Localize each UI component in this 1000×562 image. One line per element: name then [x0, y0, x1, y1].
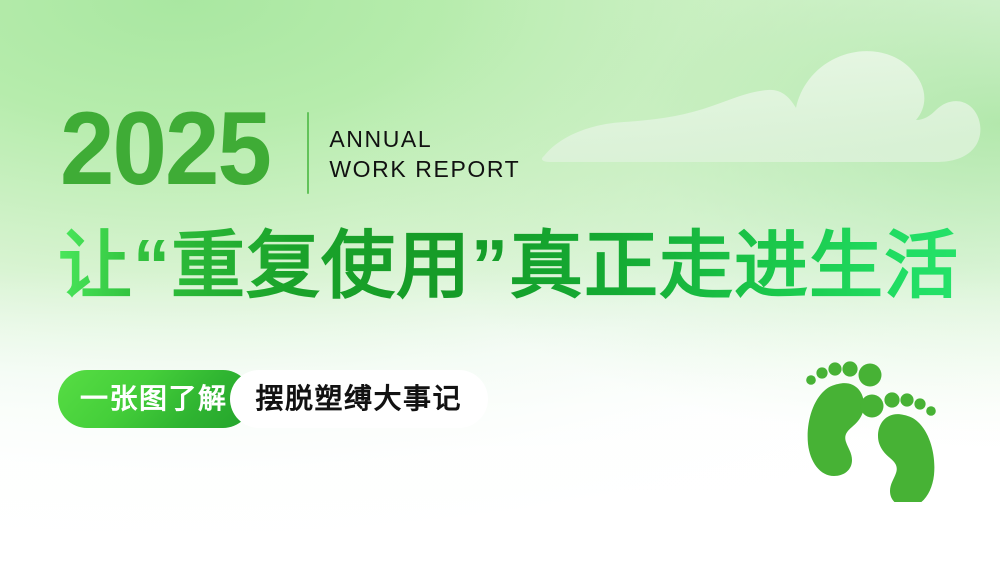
subtitle-line-work-report: WORK REPORT	[329, 154, 520, 184]
pill-green-button[interactable]: 一张图了解	[58, 370, 252, 428]
left-footprint-icon	[806, 361, 881, 476]
pill-label-group: 一张图了解 摆脱塑缚大事记	[58, 370, 488, 428]
pill-white-label: 摆脱塑缚大事记	[256, 385, 463, 413]
year-header-row: 2025 ANNUAL WORK REPORT	[60, 102, 520, 198]
footprints-decoration	[800, 352, 960, 502]
subtitle-line-annual: ANNUAL	[329, 124, 520, 154]
report-subtitle: ANNUAL WORK REPORT	[329, 124, 520, 185]
vertical-divider	[307, 112, 309, 194]
main-headline: 让“重复使用”真正走进生活	[58, 226, 959, 306]
year-number: 2025	[60, 102, 270, 198]
annual-report-banner: 2025 ANNUAL WORK REPORT 让“重复使用”真正走进生活 一张…	[0, 0, 1000, 562]
pill-green-label: 一张图了解	[80, 385, 228, 413]
cloud-shape-icon	[520, 28, 1000, 173]
right-footprint-icon	[861, 392, 936, 502]
pill-white-button[interactable]: 摆脱塑缚大事记	[230, 370, 489, 428]
